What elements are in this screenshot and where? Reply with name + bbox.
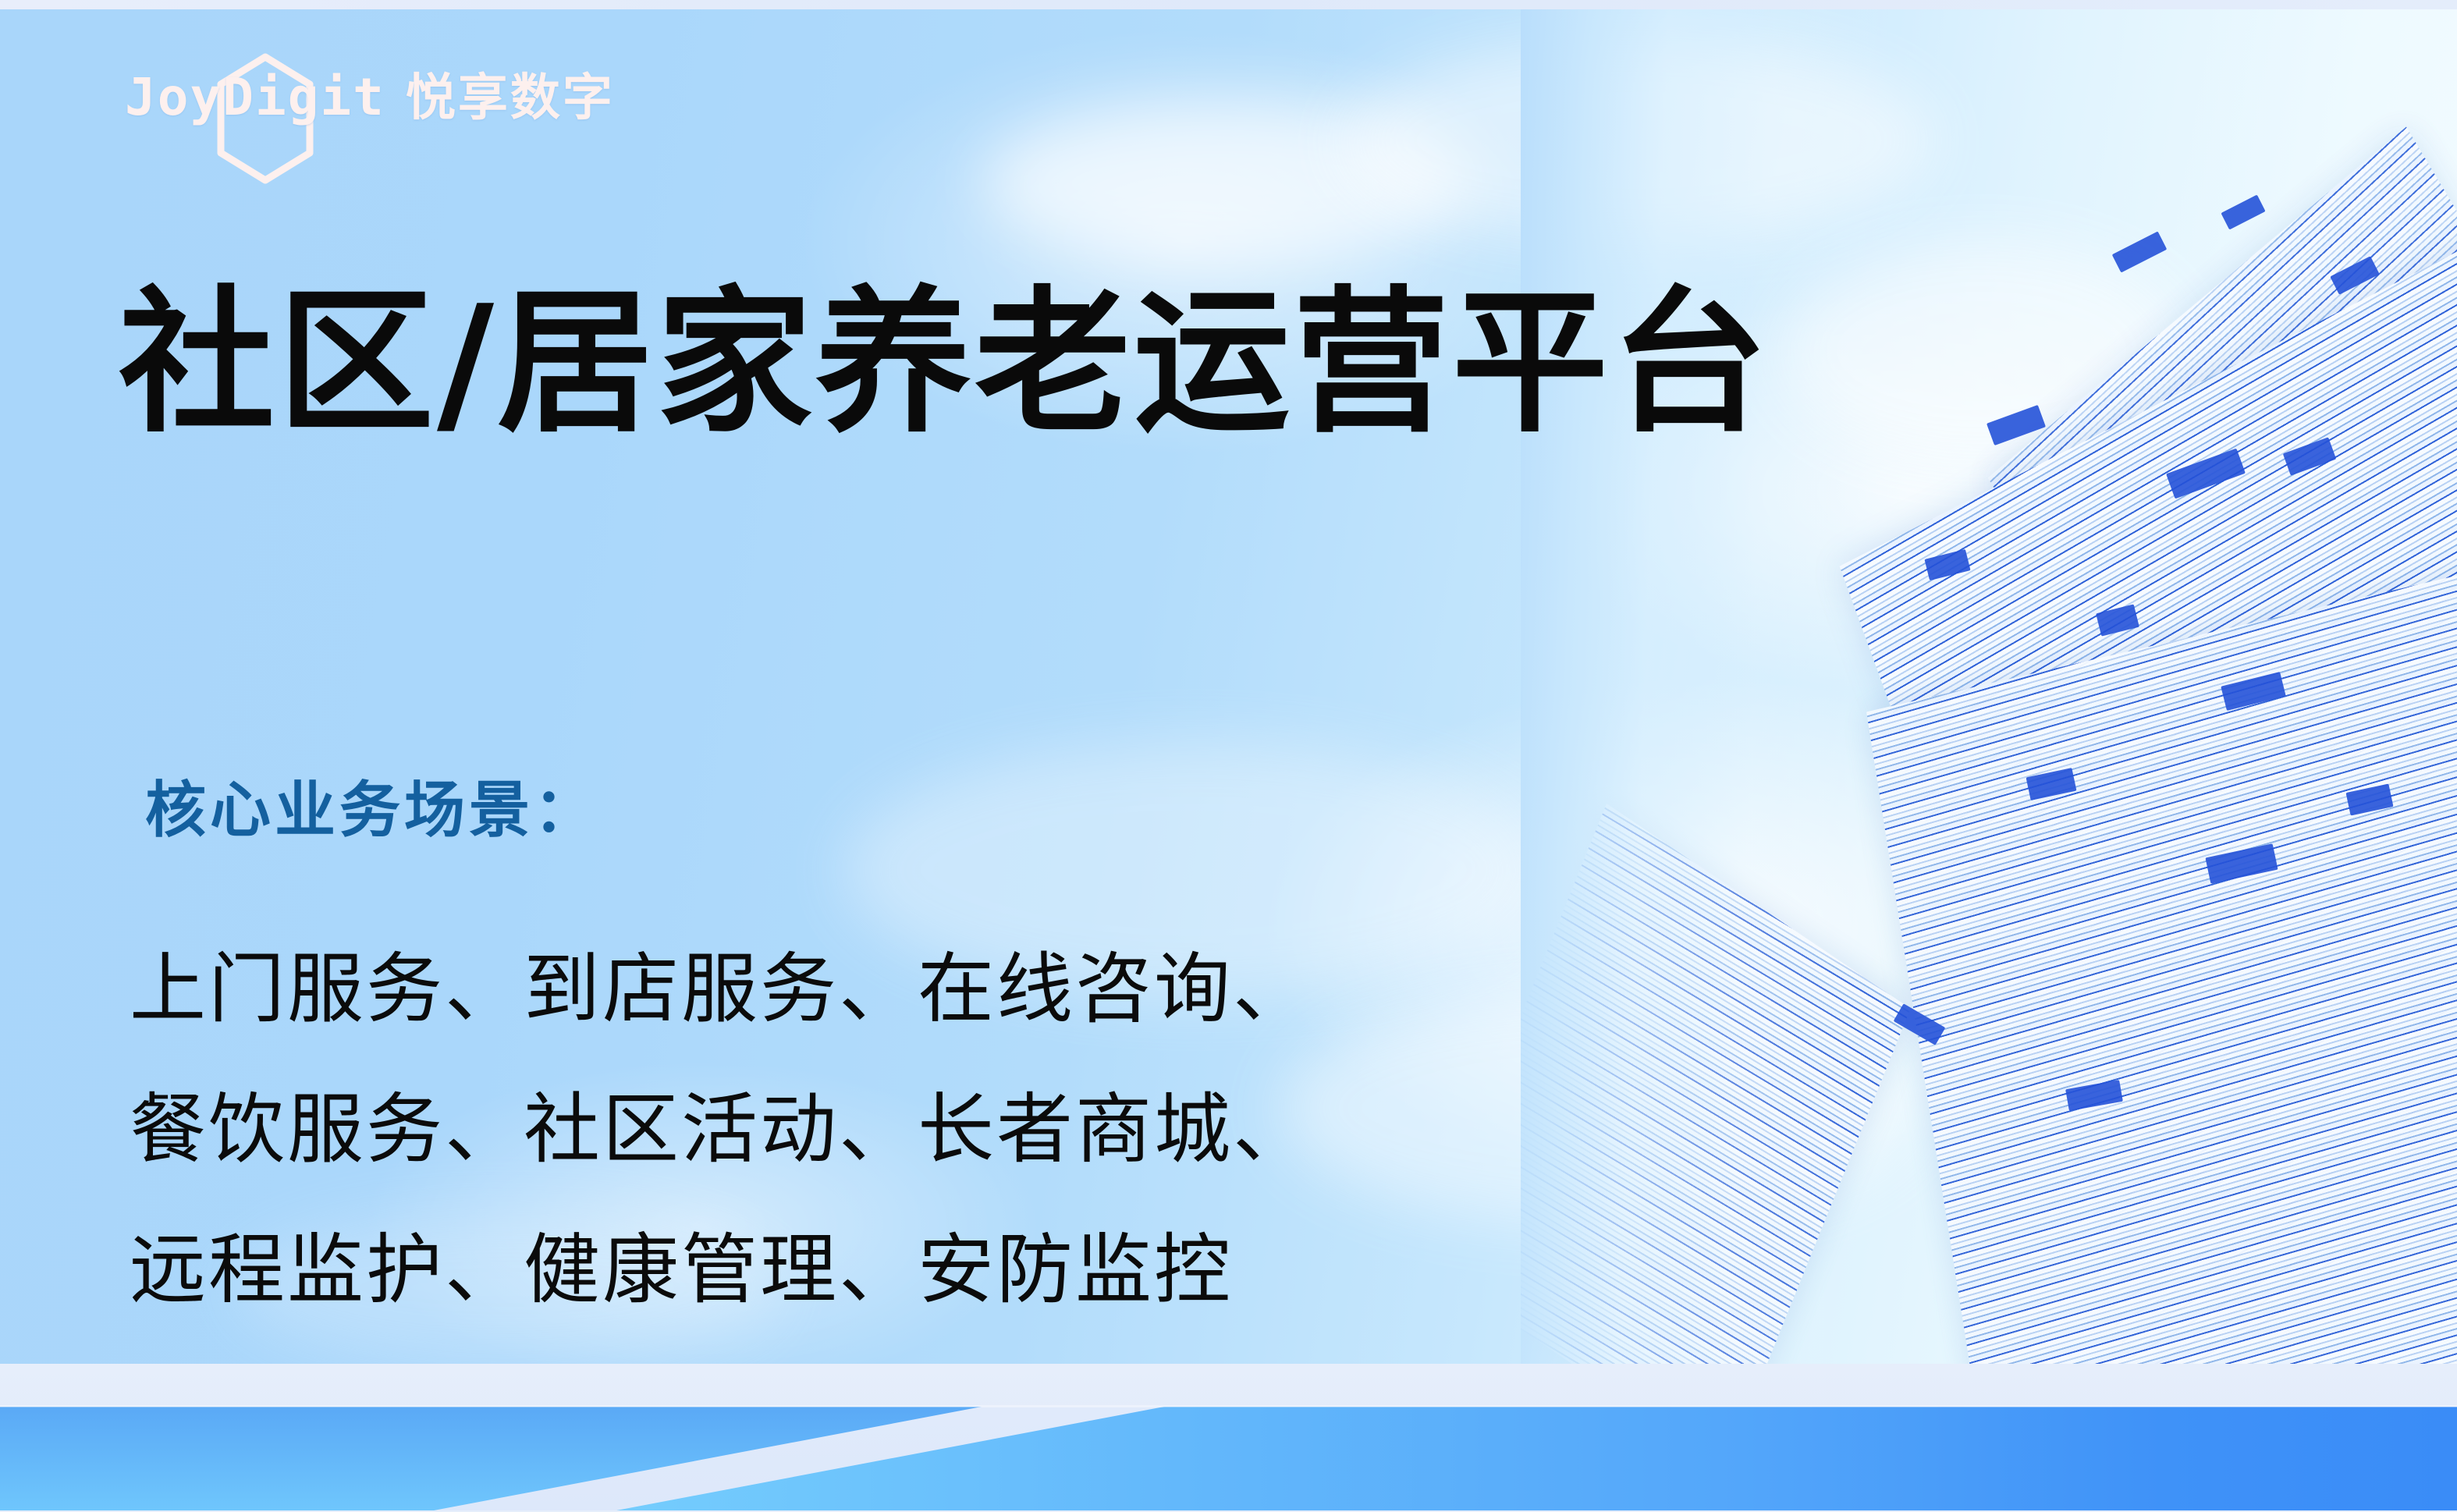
scenario-list: 上门服务、到店服务、在线咨询、 餐饮服务、社区活动、长者商城、 远程监护、健康管… (130, 919, 1312, 1340)
section-heading: 核心业务场景： (145, 780, 598, 841)
brand-name-en: JoyDigit (125, 72, 385, 123)
scenario-line: 远程监护、健康管理、安防监控 (130, 1200, 1312, 1340)
cloud-wisp (983, 101, 1467, 265)
brand-logo: JoyDigit 悦享数字 (125, 55, 671, 140)
scenario-line: 上门服务、到店服务、在线咨询、 (130, 919, 1312, 1059)
window-accent (2221, 195, 2265, 230)
brand-name-cn: 悦享数字 (406, 73, 615, 123)
window-accent (2112, 231, 2168, 272)
tower-podium (1521, 804, 1911, 1381)
bottom-decor-band (0, 1364, 2457, 1512)
brand-logo-text: JoyDigit 悦享数字 (125, 72, 615, 123)
scenario-line: 餐饮服务、社区活动、长者商城、 (130, 1059, 1312, 1200)
page-title: 社区/居家养老运营平台 (119, 275, 1770, 453)
band-top-hairline (0, 1405, 2457, 1407)
slide-root: JoyDigit 悦享数字 社区/居家养老运营平台 核心业务场景： 上门服务、到… (0, 0, 2457, 1512)
skyscraper-photo (1521, 8, 2457, 1381)
top-edge-strip (0, 0, 2457, 9)
